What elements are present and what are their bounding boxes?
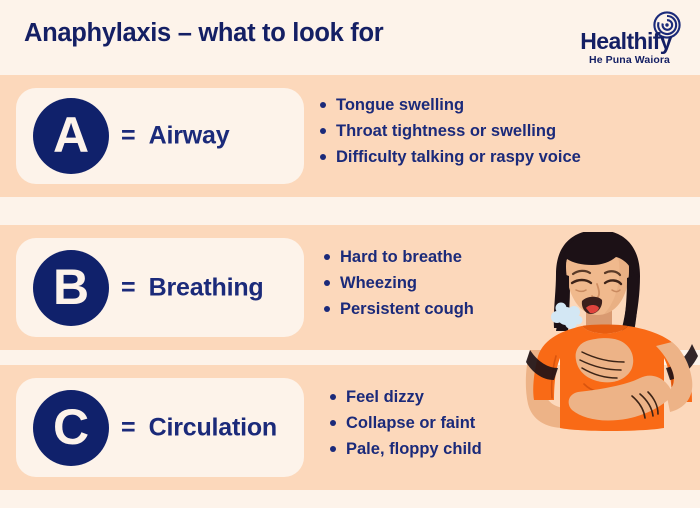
list-item: Persistent cough <box>322 296 474 322</box>
page-title: Anaphylaxis – what to look for <box>24 19 383 48</box>
letter-badge-a: A <box>33 98 109 174</box>
list-item: Wheezing <box>322 270 474 296</box>
label-row-breathing: = Breathing <box>121 273 263 302</box>
logo-tagline: He Puna Waiora <box>589 55 670 66</box>
list-item: Pale, floppy child <box>328 436 482 462</box>
card-circulation: C = Circulation <box>16 378 304 477</box>
list-item: Difficulty talking or raspy voice <box>318 144 581 170</box>
letter-badge-b: B <box>33 250 109 326</box>
list-item: Hard to breathe <box>322 244 474 270</box>
row-word-airway: Airway <box>149 122 230 151</box>
symptom-list-breathing: Hard to breathe Wheezing Persistent coug… <box>322 244 474 322</box>
symptom-list-circulation: Feel dizzy Collapse or faint Pale, flopp… <box>328 384 482 462</box>
list-item: Tongue swelling <box>318 92 581 118</box>
anaphylaxis-infographic: Anaphylaxis – what to look for Healthify… <box>0 0 700 508</box>
woman-coughing-illustration <box>520 232 700 452</box>
equals-sign-a: = <box>121 122 136 151</box>
header: Anaphylaxis – what to look for Healthify… <box>0 0 700 75</box>
card-airway: A = Airway <box>16 88 304 184</box>
card-breathing: B = Breathing <box>16 238 304 337</box>
list-item: Feel dizzy <box>328 384 482 410</box>
label-row-circulation: = Circulation <box>121 413 277 442</box>
logo-wordmark: Healthify <box>580 30 672 53</box>
equals-sign-b: = <box>121 273 136 302</box>
letter-badge-c: C <box>33 390 109 466</box>
row-word-circulation: Circulation <box>149 413 277 442</box>
symptom-list-airway: Tongue swelling Throat tightness or swel… <box>318 92 581 170</box>
equals-sign-c: = <box>121 413 136 442</box>
row-word-breathing: Breathing <box>149 273 264 302</box>
healthify-logo: Healthify He Puna Waiora <box>556 10 686 68</box>
list-item: Collapse or faint <box>328 410 482 436</box>
list-item: Throat tightness or swelling <box>318 118 581 144</box>
label-row-airway: = Airway <box>121 122 229 151</box>
